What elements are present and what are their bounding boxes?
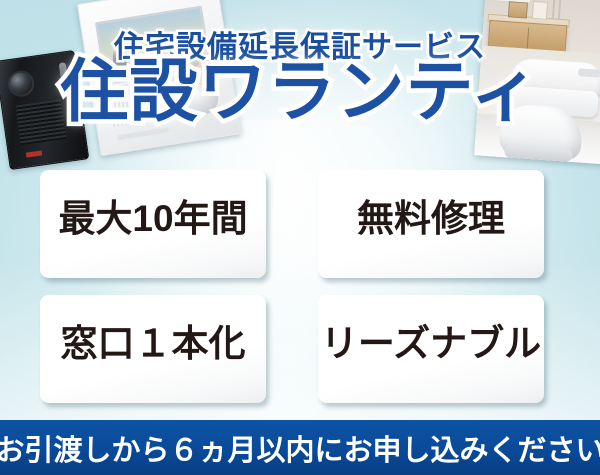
feature-label: 窓口１本化 [61, 325, 246, 362]
feature-box-free-repair: 無料修理 [318, 170, 544, 278]
feature-box-single-contact: 窓口１本化 [40, 295, 266, 403]
feature-label: リーズナブル [321, 325, 541, 362]
promotional-banner: 住宅設備延長保証サービス 住設ワランティ 最大10年間 無料修理 窓口１本化 リ… [0, 0, 600, 475]
feature-label: 最大10年間 [58, 200, 247, 237]
decor-box [508, 1, 528, 18]
application-deadline-bar: お引渡しから６ヵ月以内にお申し込みください [0, 420, 600, 475]
banner-title: 住設ワランティ [0, 58, 600, 126]
feature-box-grid: 最大10年間 無料修理 窓口１本化 リーズナブル [40, 170, 546, 403]
feature-box-reasonable: リーズナブル [318, 295, 544, 403]
decor-frame [532, 1, 548, 20]
feature-box-max-10-years: 最大10年間 [40, 170, 266, 278]
feature-label: 無料修理 [357, 200, 505, 237]
application-deadline-text: お引渡しから６ヵ月以内にお申し込みください [0, 427, 600, 469]
door-station-call-button [26, 150, 43, 157]
